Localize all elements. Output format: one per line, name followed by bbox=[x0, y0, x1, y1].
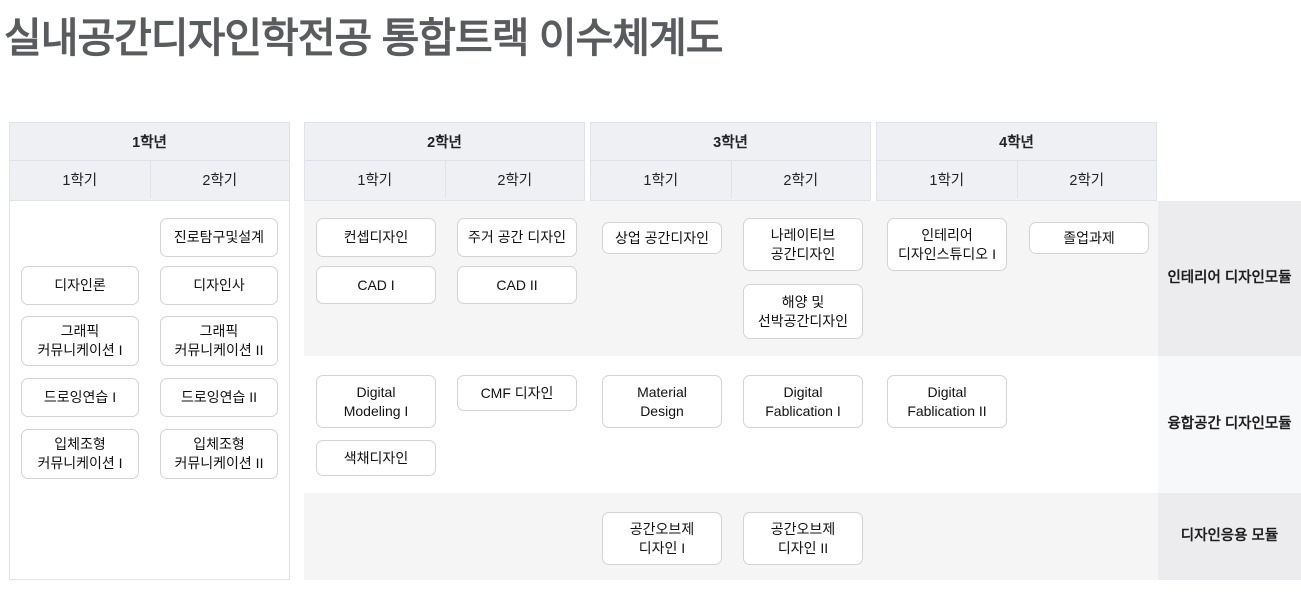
course-box[interactable]: CAD I bbox=[316, 266, 436, 304]
course-box[interactable]: 그래픽 커뮤니케이션 I bbox=[21, 316, 139, 366]
year3-semester-2[interactable]: 2학기 bbox=[731, 161, 871, 198]
year-header-4-label: 4학년 bbox=[877, 123, 1156, 161]
course-box[interactable]: Material Design bbox=[602, 375, 722, 428]
course-box[interactable]: 주거 공간 디자인 bbox=[457, 218, 577, 257]
year2-semester-1[interactable]: 1학기 bbox=[305, 161, 445, 198]
year-header-4: 4학년 1학기 2학기 bbox=[876, 122, 1157, 201]
module-label-applied: 디자인응용 모듈 bbox=[1158, 493, 1301, 580]
curriculum-chart: 실내공간디자인학전공 통합트랙 이수체계도 1학년 1학기 2학기 2학년 1학… bbox=[0, 0, 1301, 597]
course-box[interactable]: 상업 공간디자인 bbox=[602, 222, 722, 254]
year-header-2: 2학년 1학기 2학기 bbox=[304, 122, 585, 201]
course-box[interactable]: 색채디자인 bbox=[316, 440, 436, 476]
module-band-applied bbox=[304, 493, 1158, 580]
module-label-interior: 인테리어 디자인모듈 bbox=[1158, 201, 1301, 356]
year4-semester-1[interactable]: 1학기 bbox=[877, 161, 1017, 198]
year-header-2-label: 2학년 bbox=[305, 123, 584, 161]
course-box[interactable]: 졸업과제 bbox=[1029, 222, 1149, 254]
course-box[interactable]: 그래픽 커뮤니케이션 II bbox=[160, 316, 278, 366]
page-title: 실내공간디자인학전공 통합트랙 이수체계도 bbox=[4, 4, 722, 64]
course-box[interactable]: 공간오브제 디자인 I bbox=[602, 512, 722, 565]
year-header-1: 1학년 1학기 2학기 bbox=[9, 122, 290, 201]
year-header-3-label: 3학년 bbox=[591, 123, 870, 161]
course-box[interactable]: 컨셉디자인 bbox=[316, 218, 436, 257]
course-box[interactable]: Digital Fablication I bbox=[743, 375, 863, 428]
course-box[interactable]: CAD II bbox=[457, 266, 577, 304]
course-box[interactable]: 해양 및 선박공간디자인 bbox=[743, 284, 863, 339]
year4-semester-2[interactable]: 2학기 bbox=[1017, 161, 1157, 198]
course-box[interactable]: 진로탐구및설계 bbox=[160, 218, 278, 257]
year-header-1-label: 1학년 bbox=[10, 123, 289, 161]
course-box[interactable]: 공간오브제 디자인 II bbox=[743, 512, 863, 565]
course-box[interactable]: 입체조형 커뮤니케이션 II bbox=[160, 429, 278, 479]
course-box[interactable]: 드로잉연습 II bbox=[160, 378, 278, 417]
course-box[interactable]: 나레이티브 공간디자인 bbox=[743, 218, 863, 271]
course-box[interactable]: 디자인론 bbox=[21, 266, 139, 305]
course-box[interactable]: CMF 디자인 bbox=[457, 375, 577, 411]
year1-semester-1[interactable]: 1학기 bbox=[10, 161, 150, 198]
course-box[interactable]: 인테리어 디자인스튜디오 I bbox=[887, 218, 1007, 271]
year3-semester-1[interactable]: 1학기 bbox=[591, 161, 731, 198]
course-box[interactable]: 디자인사 bbox=[160, 266, 278, 305]
course-box[interactable]: 드로잉연습 I bbox=[21, 378, 139, 417]
year-header-3: 3학년 1학기 2학기 bbox=[590, 122, 871, 201]
course-box[interactable]: 입체조형 커뮤니케이션 I bbox=[21, 429, 139, 479]
year2-semester-2[interactable]: 2학기 bbox=[445, 161, 585, 198]
year1-semester-2[interactable]: 2학기 bbox=[150, 161, 290, 198]
course-box[interactable]: Digital Fablication II bbox=[887, 375, 1007, 428]
module-label-fusion: 융합공간 디자인모듈 bbox=[1158, 356, 1301, 493]
course-box[interactable]: Digital Modeling I bbox=[316, 375, 436, 428]
